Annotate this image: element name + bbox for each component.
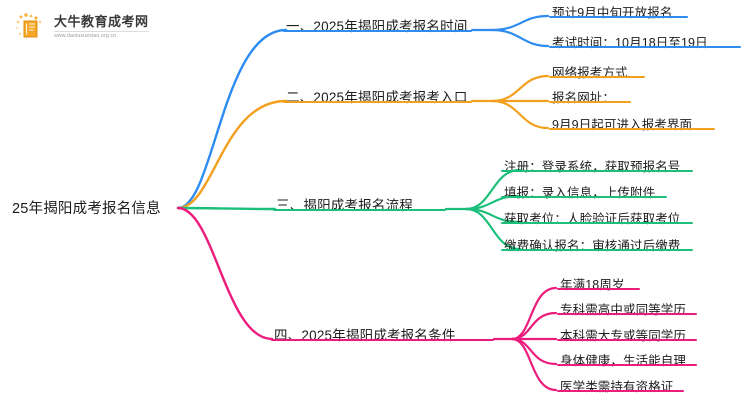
leaf-4-2-underline — [557, 313, 697, 315]
leaf-node-3-4[interactable]: 缴费确认报名：审核通过后缴费 — [500, 235, 684, 256]
leaf-node-2-2[interactable]: 报名网址： — [548, 87, 619, 108]
leaf-2-1-underline — [549, 76, 645, 78]
root-node[interactable]: 25年揭阳成考报名信息 — [8, 197, 165, 220]
leaf-node-2-3[interactable]: 9月9日起可进入报考界面 — [548, 114, 696, 135]
leaf-node-3-4-label: 缴费确认报名：审核通过后缴费 — [500, 235, 684, 256]
branch-node-4-label: 四、2025年揭阳成考报名条件 — [270, 324, 460, 346]
leaf-node-3-3[interactable]: 获取考位：人脸验证后获取考位 — [500, 208, 684, 229]
leaf-node-3-2-label: 填报：录入信息，上传附件 — [500, 182, 659, 203]
logo-url: www.daniuxuexiao.org.cn — [54, 31, 149, 40]
leaf-node-2-2-label: 报名网址： — [548, 87, 619, 108]
leaf-node-1-2-label: 考试时间：10月18日至19日 — [548, 32, 712, 53]
leaf-node-2-1[interactable]: 网络报考方式 — [548, 62, 632, 83]
leaf-1-2-underline — [549, 46, 741, 48]
leaf-4-4-underline — [557, 364, 697, 366]
leaf-node-4-2-label: 专科需高中或同等学历 — [556, 299, 690, 320]
root-node-label: 25年揭阳成考报名信息 — [8, 197, 165, 220]
leaf-node-3-1[interactable]: 注册：登录系统，获取预报名号 — [500, 156, 684, 177]
leaf-3-4-underline — [501, 249, 693, 251]
leaf-3-3-underline — [501, 222, 693, 224]
leaf-node-4-2[interactable]: 专科需高中或同等学历 — [556, 299, 690, 320]
branch-node-2-label: 二、2025年揭阳成考报考入口 — [282, 86, 472, 108]
branch-node-1[interactable]: 一、2025年揭阳成考报名时间 — [282, 15, 472, 37]
leaf-node-2-1-label: 网络报考方式 — [548, 62, 632, 83]
leaf-node-4-3-label: 本科需大专或等同学历 — [556, 325, 690, 346]
leaf-3-1-underline — [501, 170, 693, 172]
leaf-node-3-3-label: 获取考位：人脸验证后获取考位 — [500, 208, 684, 229]
leaf-node-4-5-label: 医学类需持有资格证 — [556, 376, 677, 397]
leaf-2-3-underline — [549, 128, 715, 130]
leaf-2-2-underline — [549, 101, 631, 103]
leaf-node-4-4[interactable]: 身体健康，生活能自理 — [556, 350, 690, 371]
mindmap-canvas: 大牛教育成考网 www.daniuxuexiao.org.cn — [0, 0, 750, 410]
leaf-4-1-underline — [557, 288, 640, 290]
logo-name: 大牛教育成考网 — [54, 15, 149, 28]
branch-4-underline — [271, 339, 494, 341]
branch-3-underline — [273, 209, 446, 211]
leaf-node-2-3-label: 9月9日起可进入报考界面 — [548, 114, 696, 135]
leaf-node-1-1[interactable]: 预计9月中旬开放报名 — [548, 2, 676, 23]
branch-node-1-label: 一、2025年揭阳成考报名时间 — [282, 15, 472, 37]
leaf-node-4-3[interactable]: 本科需大专或等同学历 — [556, 325, 690, 346]
leaf-node-1-1-label: 预计9月中旬开放报名 — [548, 2, 676, 23]
leaf-node-3-1-label: 注册：登录系统，获取预报名号 — [500, 156, 684, 177]
leaf-4-5-underline — [557, 390, 684, 392]
branch-node-2[interactable]: 二、2025年揭阳成考报考入口 — [282, 86, 472, 108]
leaf-4-3-underline — [557, 339, 697, 341]
site-logo: 大牛教育成考网 www.daniuxuexiao.org.cn — [14, 10, 154, 44]
leaf-node-4-1[interactable]: 年满18周岁 — [556, 274, 629, 295]
leaf-node-1-2[interactable]: 考试时间：10月18日至19日 — [548, 32, 712, 53]
branch-node-3[interactable]: 三、揭阳成考报名流程 — [272, 194, 417, 216]
leaf-node-4-4-label: 身体健康，生活能自理 — [556, 350, 690, 371]
branch-2-underline — [283, 101, 472, 103]
leaf-node-4-5[interactable]: 医学类需持有资格证 — [556, 376, 677, 397]
leaf-1-1-underline — [549, 16, 688, 18]
leaf-node-4-1-label: 年满18周岁 — [556, 274, 629, 295]
branch-1-underline — [283, 30, 472, 32]
leaf-3-2-underline — [501, 196, 667, 198]
leaf-node-3-2[interactable]: 填报：录入信息，上传附件 — [500, 182, 659, 203]
branch-node-3-label: 三、揭阳成考报名流程 — [272, 194, 417, 216]
book-logo-icon — [14, 12, 48, 42]
logo-text-block: 大牛教育成考网 www.daniuxuexiao.org.cn — [54, 15, 149, 40]
branch-node-4[interactable]: 四、2025年揭阳成考报名条件 — [270, 324, 460, 346]
